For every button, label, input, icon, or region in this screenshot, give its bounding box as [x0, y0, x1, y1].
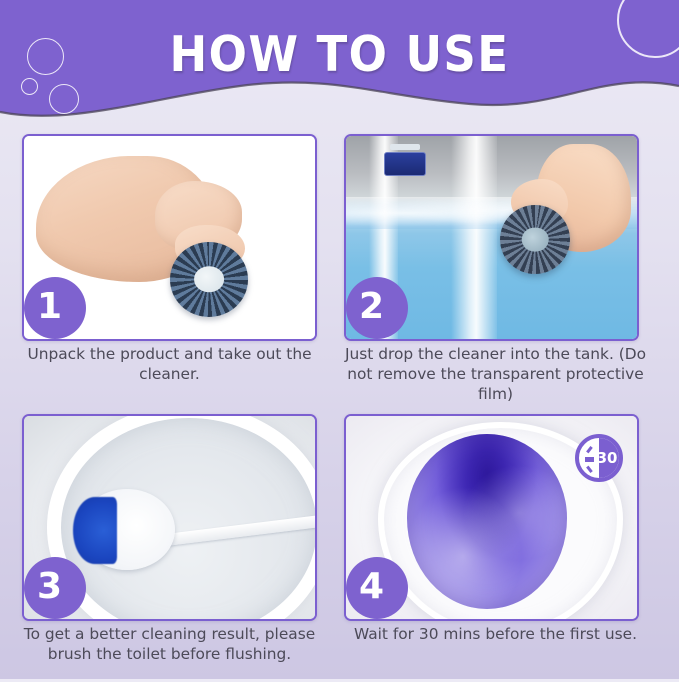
step-card-2: 2 Just drop the cleaner into the tank. (…	[340, 126, 679, 402]
purple-water-surface	[407, 434, 567, 609]
cleaner-tablet	[170, 242, 249, 317]
bubble-icon-medium-left	[49, 84, 79, 114]
step-caption-4: Wait for 30 mins before the first use.	[334, 624, 657, 644]
steps-grid: 1 Unpack the product and take out the cl…	[0, 126, 679, 679]
step-number-badge-3: 3	[24, 557, 86, 619]
tank-pipe-center	[451, 136, 498, 339]
step-number-badge-4: 4	[346, 557, 408, 619]
step-caption-3: To get a better cleaning result, please …	[8, 624, 331, 664]
step-image-panel-2: 2	[344, 134, 639, 341]
step-image-panel-1: 1	[22, 134, 317, 341]
page-title: HOW TO USE	[27, 26, 652, 83]
step-card-4: 30 4 Wait for 30 mins before the first u…	[340, 406, 679, 682]
step-card-3: 3 To get a better cleaning result, pleas…	[0, 406, 339, 682]
step-caption-2: Just drop the cleaner into the tank. (Do…	[334, 344, 657, 404]
timer-30-icon: 30	[575, 434, 623, 482]
step-caption-1: Unpack the product and take out the clea…	[8, 344, 331, 384]
step-image-panel-3: 3	[22, 414, 317, 621]
step-card-1: 1 Unpack the product and take out the cl…	[0, 126, 339, 402]
page-header: HOW TO USE	[0, 0, 679, 126]
step-number-badge-2: 2	[346, 277, 408, 339]
brush-bristles-blue	[73, 497, 117, 564]
timer-minutes-label: 30	[597, 438, 617, 478]
timer-tick-icon	[586, 466, 592, 473]
tank-float-cap	[390, 144, 420, 150]
step-number-badge-1: 1	[24, 277, 86, 339]
cleaner-tablet-core	[194, 266, 224, 292]
cleaner-tablet	[500, 205, 570, 274]
step-image-panel-4: 30 4	[344, 414, 639, 621]
cleaner-tablet-core	[522, 227, 549, 252]
timer-tick-icon	[585, 457, 594, 462]
timer-tick-icon	[586, 446, 592, 453]
tank-float-valve	[384, 152, 426, 176]
water-swirl-texture	[407, 434, 567, 609]
